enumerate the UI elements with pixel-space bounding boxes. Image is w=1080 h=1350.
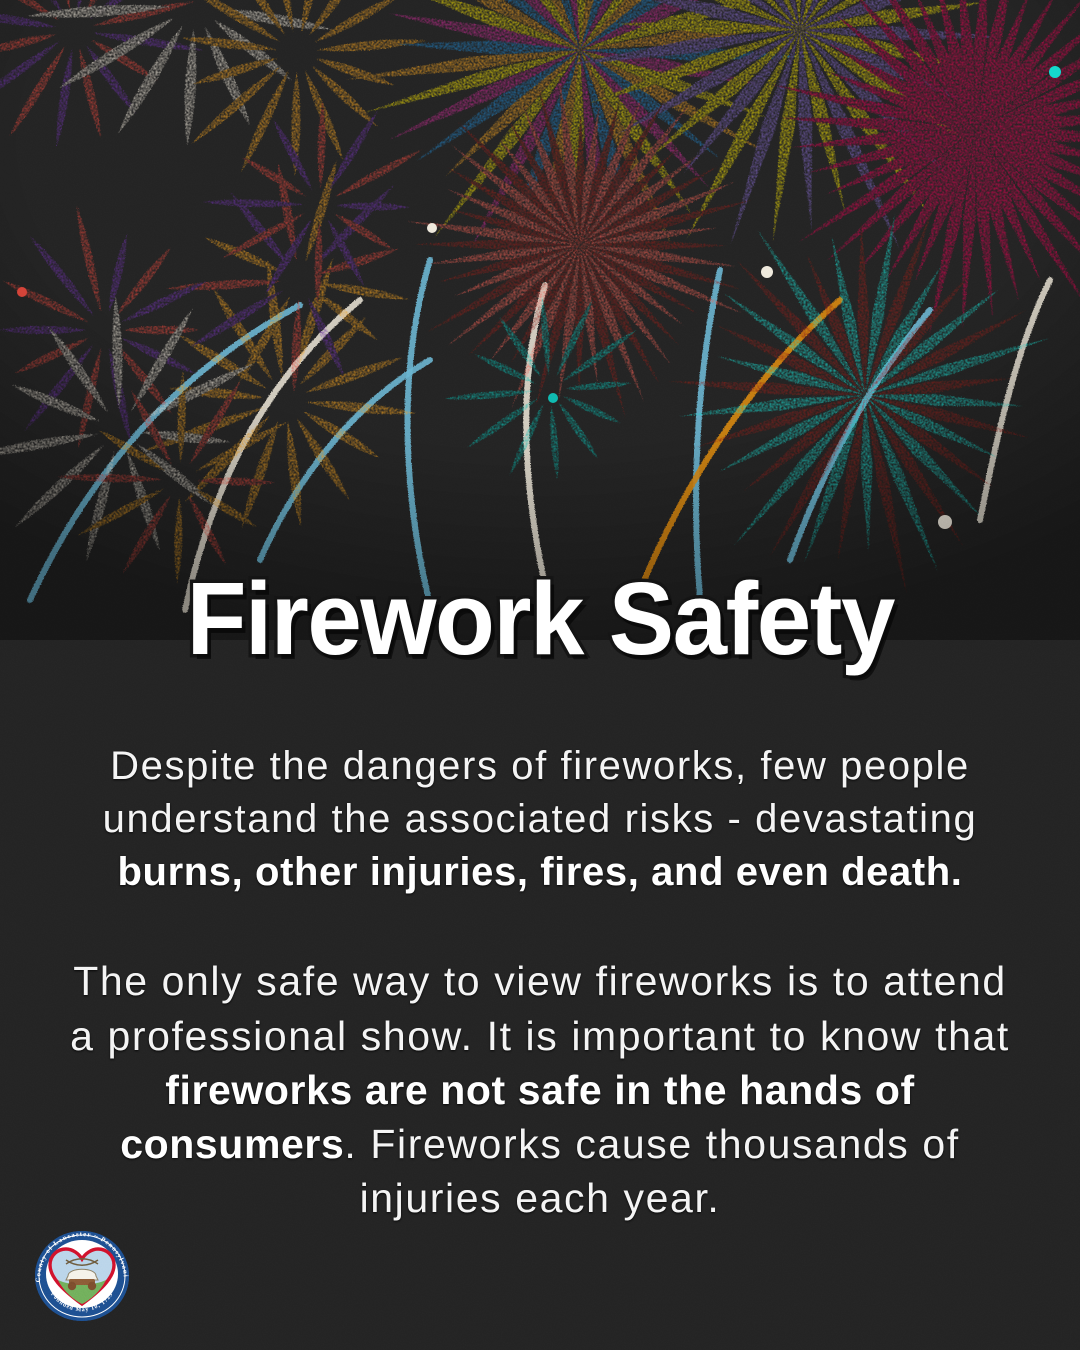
county-seal-logo: County of Lancaster ~ Pennsylvania Found…	[26, 1224, 138, 1328]
fireworks-artwork	[0, 0, 1080, 640]
body-copy: Despite the dangers of fireworks, few pe…	[62, 740, 1018, 1225]
firework-safety-poster: Firework Safety Despite the dangers of f…	[0, 0, 1080, 1350]
paragraph-intro: Despite the dangers of fireworks, few pe…	[62, 740, 1018, 898]
page-title: Firework Safety	[0, 566, 1080, 671]
page-title-text: Firework Safety	[186, 566, 893, 671]
paragraph-advice: The only safe way to view fireworks is t…	[62, 954, 1018, 1225]
